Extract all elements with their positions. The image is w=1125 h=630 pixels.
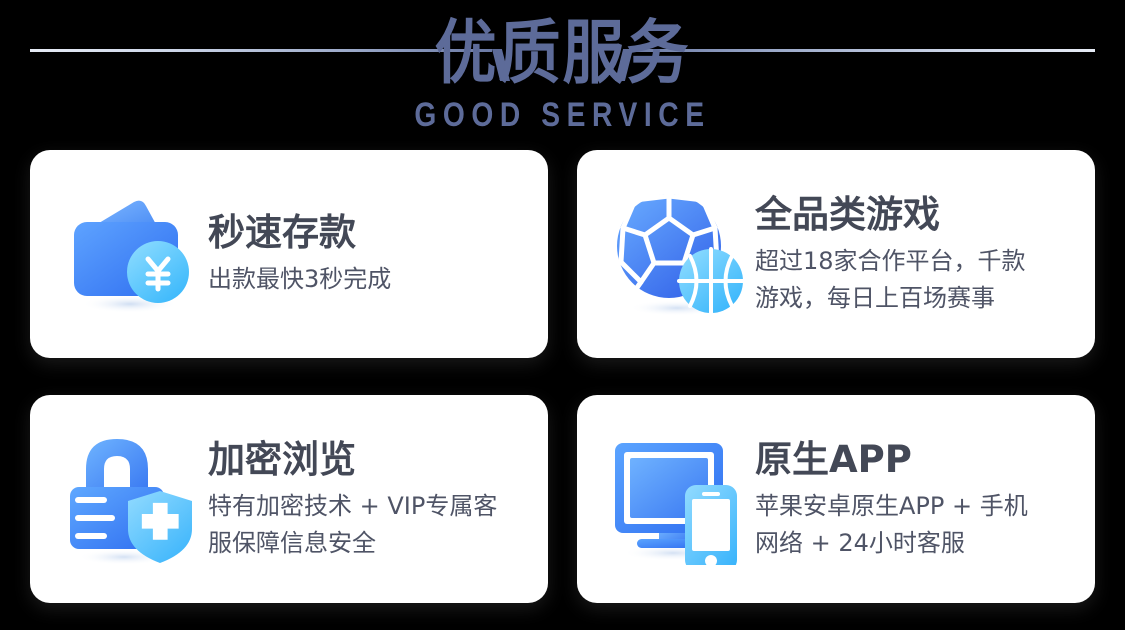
card-text-block: 全品类游戏 超过18家合作平台，千款 游戏，每日上百场赛事	[751, 192, 1077, 317]
card-description: 出款最快3秒完成	[208, 261, 530, 298]
soccer-basketball-icon	[603, 180, 751, 328]
feature-card-grid: 秒速存款 出款最快3秒完成	[30, 150, 1095, 605]
feature-card-deposit[interactable]: 秒速存款 出款最快3秒完成	[30, 150, 548, 358]
feature-card-games[interactable]: 全品类游戏 超过18家合作平台，千款 游戏，每日上百场赛事	[577, 150, 1095, 358]
card-description: 特有加密技术 + VIP专属客 服保障信息安全	[208, 488, 530, 562]
page-subtitle: GOOD SERVICE	[34, 96, 1092, 135]
card-title: 加密浏览	[208, 437, 530, 483]
card-title: 秒速存款	[208, 210, 530, 256]
card-description-line: 超过18家合作平台，千款	[755, 243, 1077, 280]
lock-shield-icon	[56, 425, 204, 573]
card-description-line: 特有加密技术 + VIP专属客	[208, 488, 530, 525]
feature-card-native-app[interactable]: 原生APP 苹果安卓原生APP + 手机 网络 + 24小时客服	[577, 395, 1095, 603]
monitor-phone-icon	[603, 425, 751, 573]
page-title: 优质服务	[0, 8, 1125, 98]
card-description-line: 苹果安卓原生APP + 手机	[755, 488, 1077, 525]
card-description-line: 网络 + 24小时客服	[755, 525, 1077, 562]
page-header: 优质服务 GOOD SERVICE	[0, 0, 1125, 150]
wallet-yen-icon	[56, 180, 204, 328]
card-description: 超过18家合作平台，千款 游戏，每日上百场赛事	[755, 243, 1077, 317]
card-description-line: 游戏，每日上百场赛事	[755, 280, 1077, 317]
card-title: 全品类游戏	[755, 192, 1077, 238]
feature-card-encryption[interactable]: 加密浏览 特有加密技术 + VIP专属客 服保障信息安全	[30, 395, 548, 603]
card-description-line: 服保障信息安全	[208, 525, 530, 562]
card-description: 苹果安卓原生APP + 手机 网络 + 24小时客服	[755, 488, 1077, 562]
card-text-block: 加密浏览 特有加密技术 + VIP专属客 服保障信息安全	[204, 437, 530, 562]
card-text-block: 原生APP 苹果安卓原生APP + 手机 网络 + 24小时客服	[751, 437, 1077, 562]
card-text-block: 秒速存款 出款最快3秒完成	[204, 210, 530, 298]
card-description-line: 出款最快3秒完成	[208, 261, 530, 298]
card-title: 原生APP	[755, 437, 1077, 483]
